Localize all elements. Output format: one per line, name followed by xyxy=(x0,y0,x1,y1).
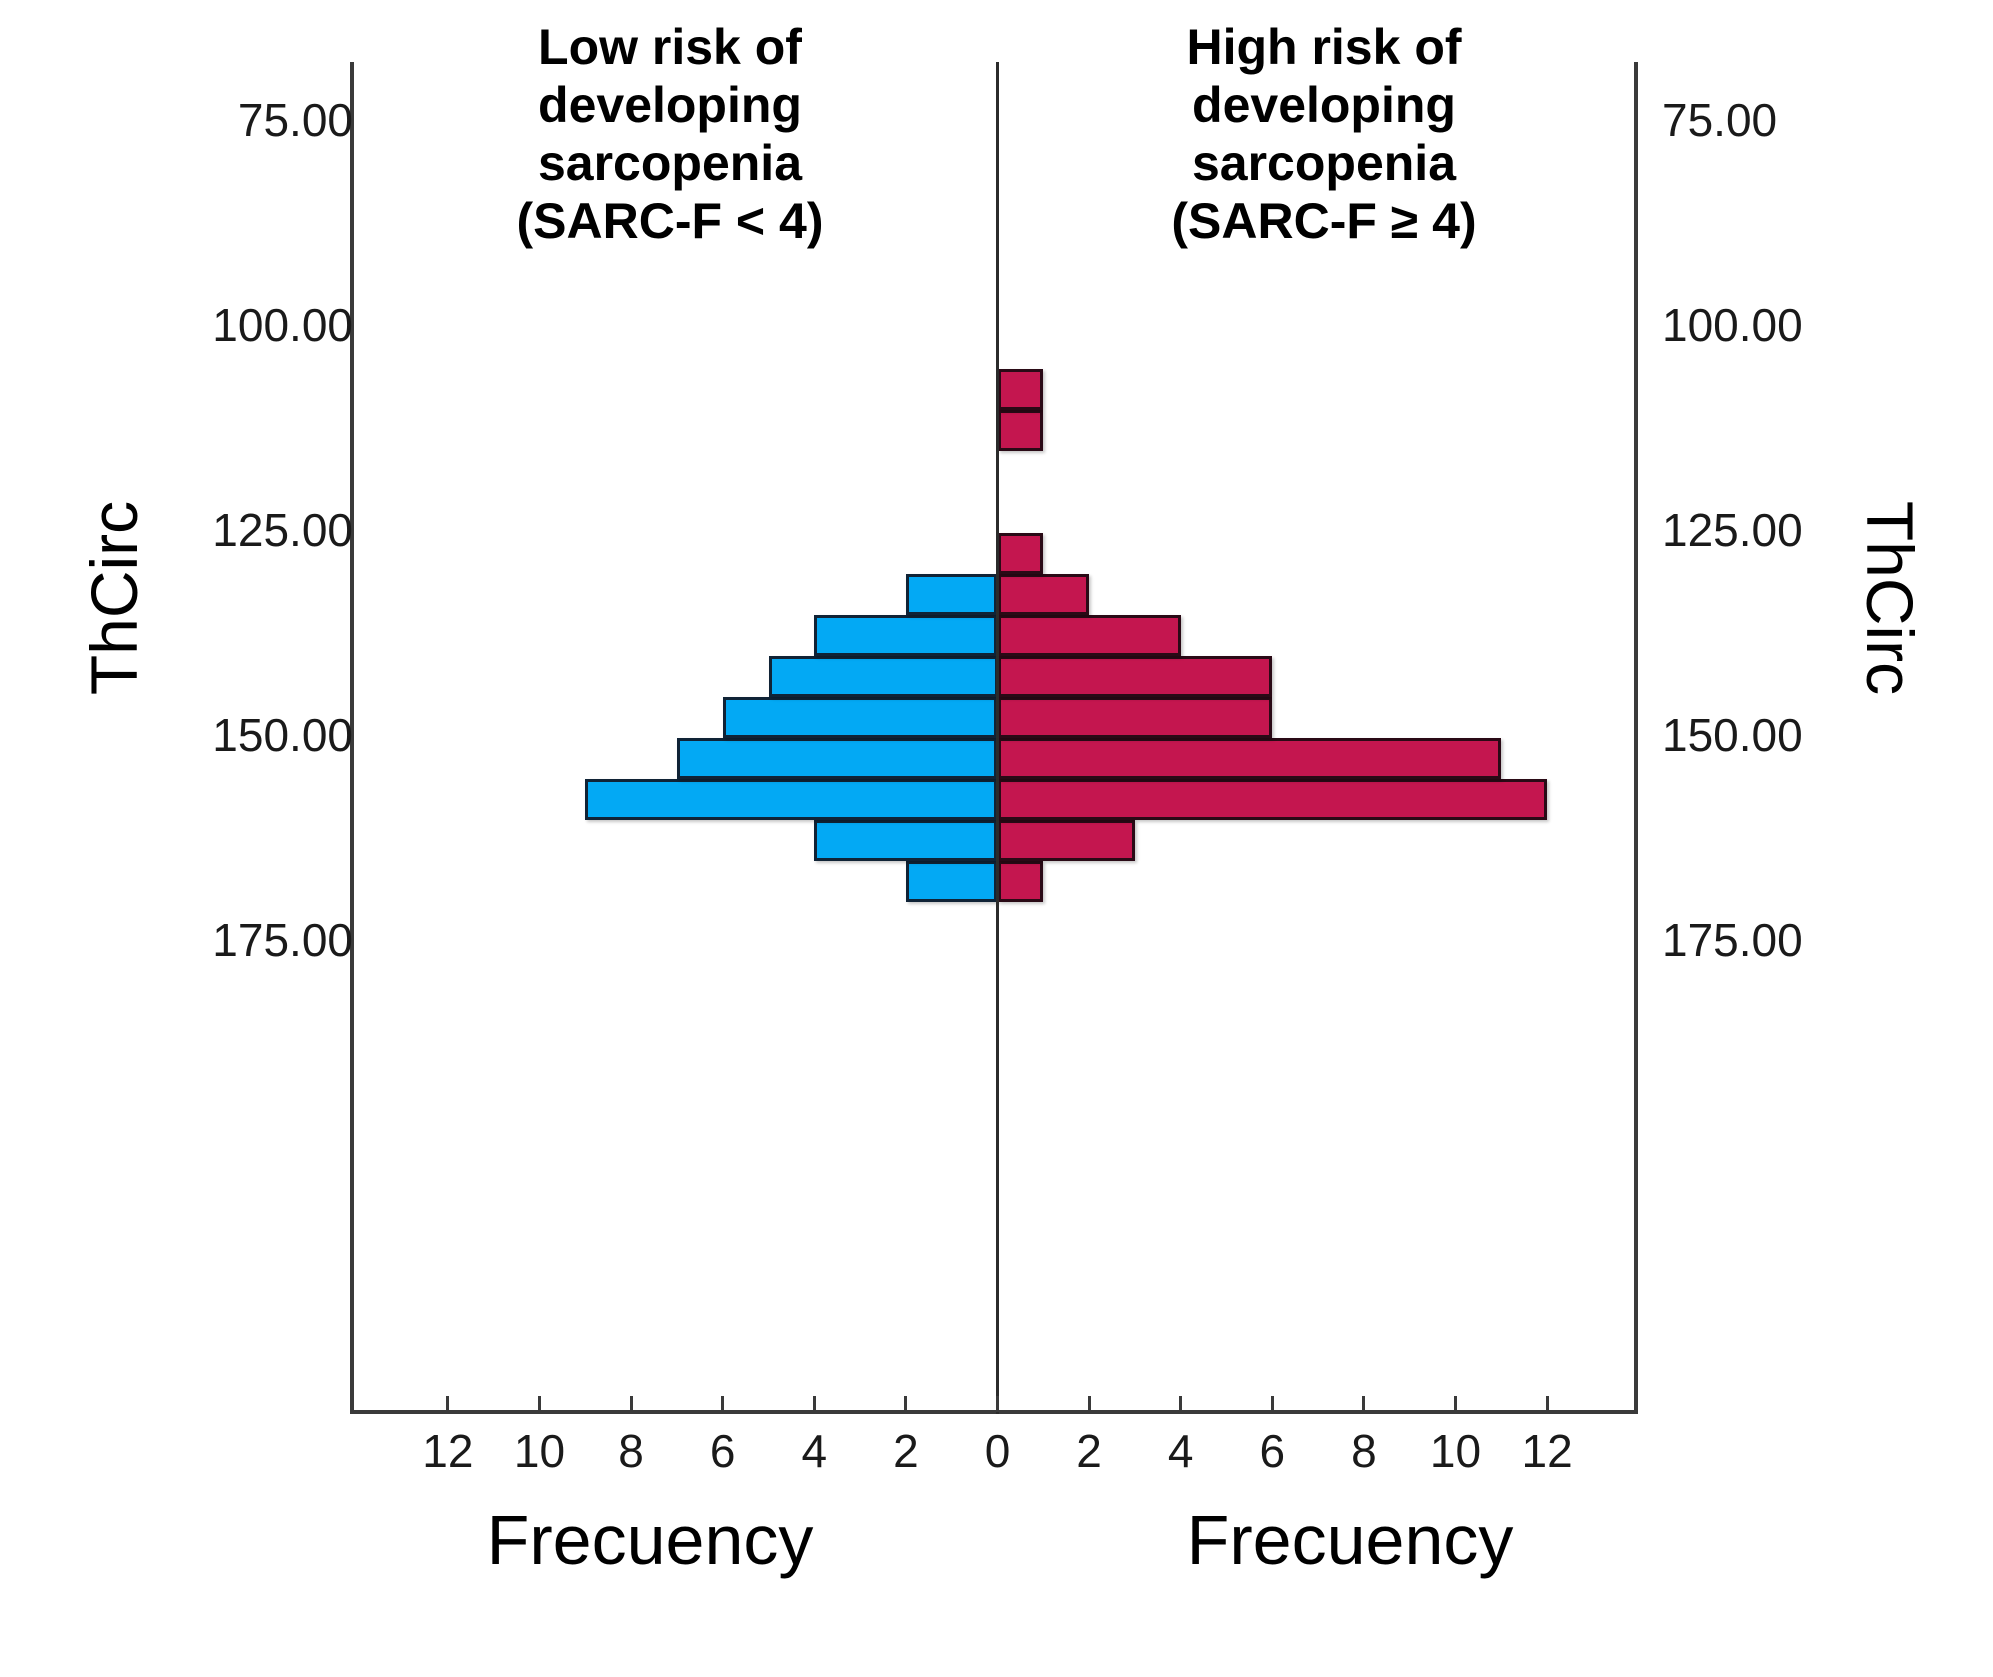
x-tickmark-2 xyxy=(630,1396,633,1412)
x-tick-left-6: 6 xyxy=(710,1424,736,1478)
y-tick-right-75: 175.00 xyxy=(1662,913,1803,967)
chart-root: Low risk of developing sarcopenia (SARC-… xyxy=(0,0,1993,1677)
x-tick-right-4: 4 xyxy=(1168,1424,1194,1478)
axis-frame-right xyxy=(1634,62,1638,1414)
bar-right-137.5 xyxy=(998,410,1044,451)
x-tickmark-11 xyxy=(1454,1396,1457,1412)
bar-left-82.5 xyxy=(906,861,998,902)
bar-right-117.5 xyxy=(998,574,1090,615)
bar-right-87.5 xyxy=(998,820,1135,861)
x-tick-left-8: 8 xyxy=(618,1424,644,1478)
x-tick-left-10: 10 xyxy=(514,1424,565,1478)
bar-right-92.5 xyxy=(998,779,1548,820)
y-tick-right-175: 75.00 xyxy=(1662,93,1777,147)
bar-right-102.5 xyxy=(998,697,1273,738)
x-tickmark-9 xyxy=(1271,1396,1274,1412)
x-tick-right-10: 10 xyxy=(1430,1424,1481,1478)
x-tick-right-2: 2 xyxy=(1076,1424,1102,1478)
bar-right-142.5 xyxy=(998,369,1044,410)
x-tickmark-6 xyxy=(996,1396,999,1412)
x-tick-left-12: 12 xyxy=(422,1424,473,1478)
bar-left-117.5 xyxy=(906,574,998,615)
x-tickmark-10 xyxy=(1362,1396,1365,1412)
y-tick-right-125: 125.00 xyxy=(1662,503,1803,557)
x-tick-left-4: 4 xyxy=(802,1424,828,1478)
x-tick-0: 0 xyxy=(985,1424,1011,1478)
bar-left-112.5 xyxy=(814,615,997,656)
y-tick-left-125: 125.00 xyxy=(212,503,353,557)
x-tick-right-6: 6 xyxy=(1260,1424,1286,1478)
x-axis-title-left: Frecuency xyxy=(330,1500,970,1580)
center-divider-axis xyxy=(996,62,999,1414)
bar-left-107.5 xyxy=(769,656,998,697)
x-tickmark-0 xyxy=(446,1396,449,1412)
x-tick-right-8: 8 xyxy=(1351,1424,1377,1478)
y-tick-right-150: 100.00 xyxy=(1662,298,1803,352)
bar-right-122.5 xyxy=(998,533,1044,574)
bar-right-82.5 xyxy=(998,861,1044,902)
bar-right-112.5 xyxy=(998,615,1181,656)
y-tick-left-175: 75.00 xyxy=(238,93,353,147)
bar-right-97.5 xyxy=(998,738,1502,779)
x-tickmark-5 xyxy=(904,1396,907,1412)
x-tickmark-7 xyxy=(1088,1396,1091,1412)
bar-left-87.5 xyxy=(814,820,997,861)
y-tick-left-100: 150.00 xyxy=(212,708,353,762)
bar-right-107.5 xyxy=(998,656,1273,697)
panel-title-high-risk: High risk of developing sarcopenia (SARC… xyxy=(1024,18,1624,250)
y-tick-right-100: 150.00 xyxy=(1662,708,1803,762)
y-tick-left-150: 100.00 xyxy=(212,298,353,352)
x-tickmark-3 xyxy=(721,1396,724,1412)
y-axis-title-right: ThCirc xyxy=(1852,448,1928,748)
bar-left-102.5 xyxy=(723,697,998,738)
x-tick-left-2: 2 xyxy=(893,1424,919,1478)
x-tickmark-1 xyxy=(538,1396,541,1412)
y-axis-title-left: ThCirc xyxy=(76,448,152,748)
x-tickmark-8 xyxy=(1179,1396,1182,1412)
x-tickmark-4 xyxy=(813,1396,816,1412)
y-tick-left-75: 175.00 xyxy=(212,913,353,967)
x-tick-right-12: 12 xyxy=(1522,1424,1573,1478)
bar-left-92.5 xyxy=(585,779,997,820)
axis-frame-bottom xyxy=(350,1410,1638,1414)
x-tickmark-12 xyxy=(1546,1396,1549,1412)
x-axis-title-right: Frecuency xyxy=(1030,1500,1670,1580)
panel-title-low-risk: Low risk of developing sarcopenia (SARC-… xyxy=(370,18,970,250)
bar-left-97.5 xyxy=(677,738,998,779)
